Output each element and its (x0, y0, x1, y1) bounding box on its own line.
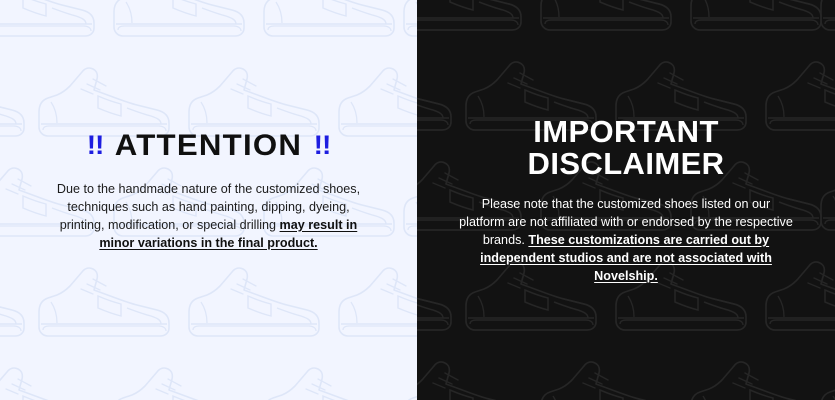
disclaimer-heading-line-2: DISCLAIMER (459, 148, 793, 180)
attention-panel: !!ATTENTION!! Due to the handmade nature… (0, 0, 417, 400)
disclaimer-heading-line-1: IMPORTANT (459, 116, 793, 148)
disclaimer-panel: IMPORTANTDISCLAIMER Please note that the… (417, 0, 835, 400)
attention-bang-right-icon: !! (314, 132, 331, 159)
attention-content: !!ATTENTION!! Due to the handmade nature… (0, 131, 417, 253)
disclaimer-banner: !!ATTENTION!! Due to the handmade nature… (0, 0, 835, 400)
attention-body: Due to the handmade nature of the custom… (52, 181, 365, 253)
disclaimer-content: IMPORTANTDISCLAIMER Please note that the… (417, 116, 835, 286)
attention-heading: !!ATTENTION!! (46, 131, 372, 161)
attention-heading-text: ATTENTION (115, 129, 302, 162)
disclaimer-body: Please note that the customized shoes li… (459, 196, 793, 285)
attention-bang-left-icon: !! (87, 132, 104, 159)
disclaimer-heading: IMPORTANTDISCLAIMER (459, 116, 793, 179)
